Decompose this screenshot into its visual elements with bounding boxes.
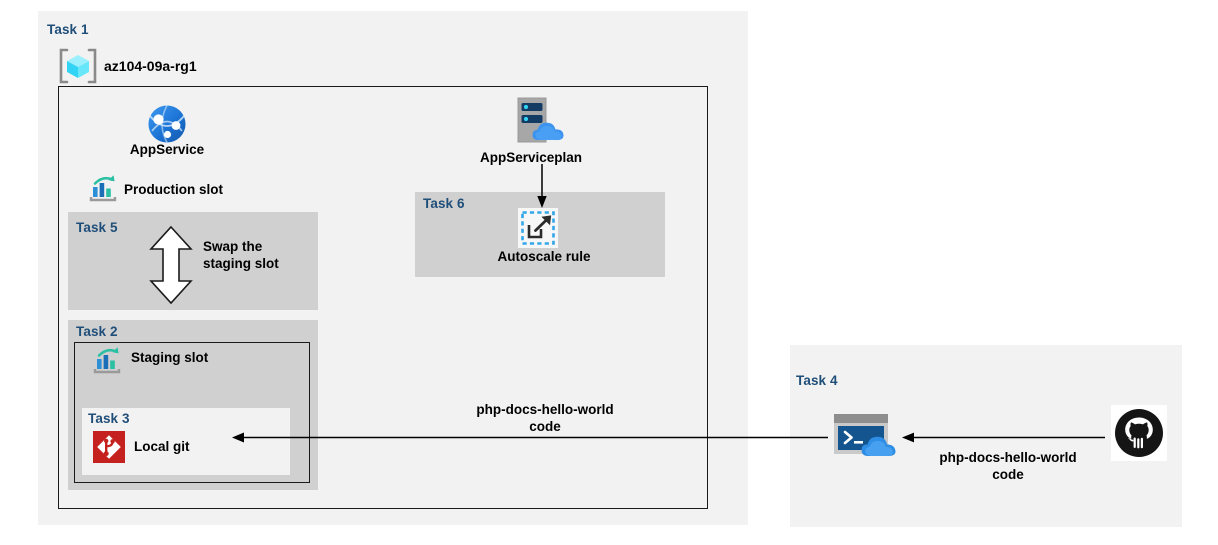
deployment-slot-icon-production: [88, 174, 118, 204]
app-service-globe-icon: [146, 103, 188, 145]
task5-swap-text: Swap the staging slot: [203, 239, 313, 273]
task2-label: Task 2: [76, 324, 118, 339]
swap-double-arrow-icon: [146, 225, 196, 305]
task4-label: Task 4: [796, 373, 838, 388]
task5-swap-text-line2: staging slot: [203, 256, 279, 271]
edge-label-line2: code: [529, 419, 561, 434]
cloud-shell-icon: [832, 412, 900, 460]
cloudshell-to-localgit-edge-label: php-docs-hello-world code: [430, 402, 660, 436]
github-to-cloudshell-edge-label: php-docs-hello-world code: [893, 450, 1123, 484]
edge-label-line1: php-docs-hello-world: [476, 402, 613, 417]
resource-group-name: az104-09a-rg1: [104, 58, 197, 74]
git-icon: [93, 431, 125, 463]
task5-label: Task 5: [76, 220, 118, 235]
app-service-plan-icon: [512, 96, 572, 148]
task5-swap-text-line1: Swap the: [203, 239, 262, 254]
staging-slot-label: Staging slot: [131, 350, 208, 365]
task6-label: Task 6: [423, 196, 465, 211]
appserviceplan-label: AppServiceplan: [480, 150, 582, 165]
github-edge-label-line1: php-docs-hello-world: [939, 450, 1076, 465]
production-slot-label: Production slot: [124, 182, 223, 197]
autoscale-rule-icon: [518, 208, 558, 248]
deployment-slot-icon-staging: [92, 346, 122, 376]
task3-label: Task 3: [88, 411, 130, 426]
diagram-canvas: Task 1 az104-09a-rg1: [0, 0, 1218, 545]
autoscale-rule-label: Autoscale rule: [497, 249, 590, 264]
local-git-label: Local git: [134, 439, 190, 454]
github-edge-label-line2: code: [992, 467, 1024, 482]
resource-group-cube-icon: [58, 47, 98, 85]
task1-label: Task 1: [47, 22, 89, 37]
appservice-label: AppService: [130, 142, 204, 157]
